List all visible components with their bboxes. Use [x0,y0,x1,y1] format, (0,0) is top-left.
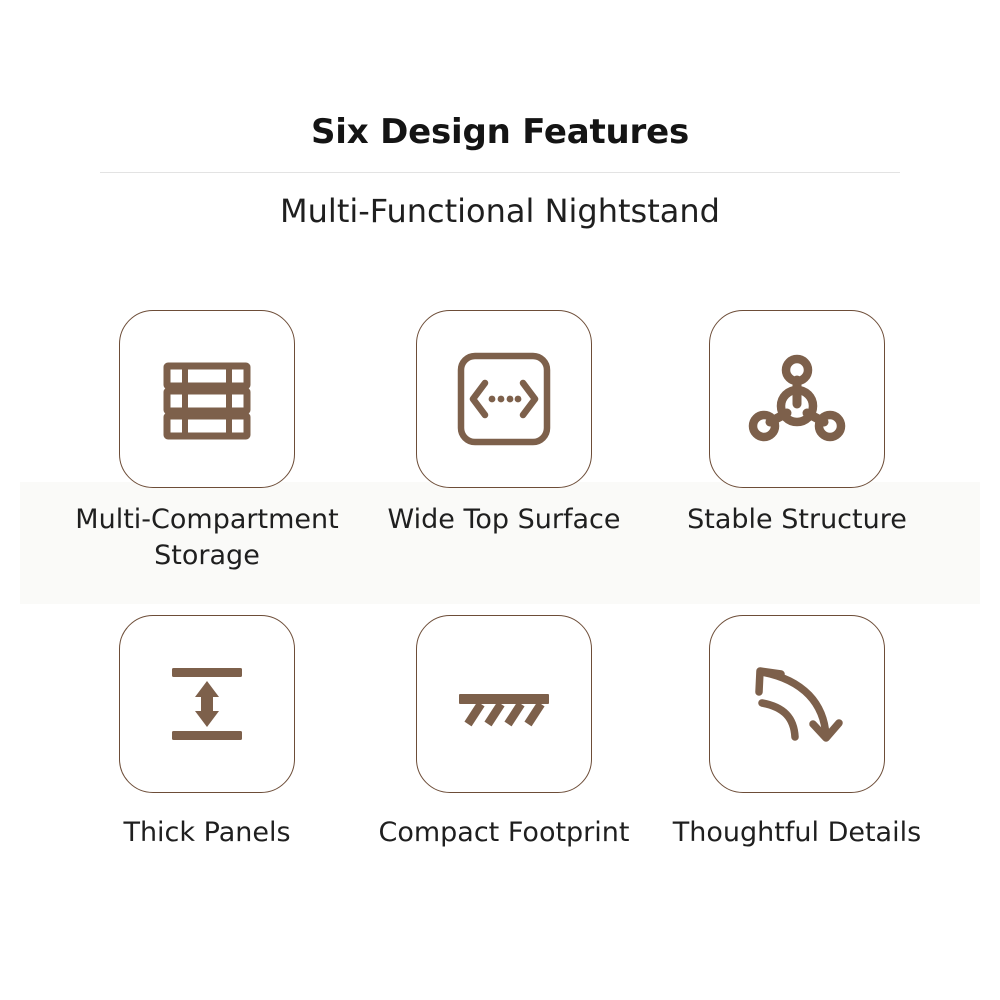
feature-card-stable-structure: Stable Structure [632,310,962,538]
feature-card-thick-panels: Thick Panels [42,615,372,851]
stacked-drawers-icon [155,347,259,451]
feature-label: Compact Footprint [339,815,669,851]
feature-card-compact-footprint: Compact Footprint [339,615,669,851]
feature-label: Thoughtful Details [632,815,962,851]
feature-icon-tile [119,310,295,488]
feature-label: Wide Top Surface [339,502,669,538]
features-grid: Multi-Compartment Storage [0,0,1000,1000]
molecule-nodes-icon [743,347,851,451]
feature-icon-tile [709,310,885,488]
feature-card-multi-compartment-storage: Multi-Compartment Storage [42,310,372,574]
curved-double-arrow-icon [742,652,852,756]
feature-card-wide-top-surface: Wide Top Surface [339,310,669,538]
feature-icon-tile [416,310,592,488]
width-arrows-icon [452,347,556,451]
thickness-arrow-icon [155,652,259,756]
feature-label: Thick Panels [42,815,372,851]
feature-icon-tile [709,615,885,793]
feature-card-thoughtful-details: Thoughtful Details [632,615,962,851]
feature-label: Stable Structure [632,502,962,538]
feature-infographic-page: Six Design Features Multi-Functional Nig… [0,0,1000,1000]
feature-icon-tile [119,615,295,793]
feature-label: Multi-Compartment Storage [42,502,372,574]
feature-icon-tile [416,615,592,793]
hatched-ground-icon [448,652,560,756]
